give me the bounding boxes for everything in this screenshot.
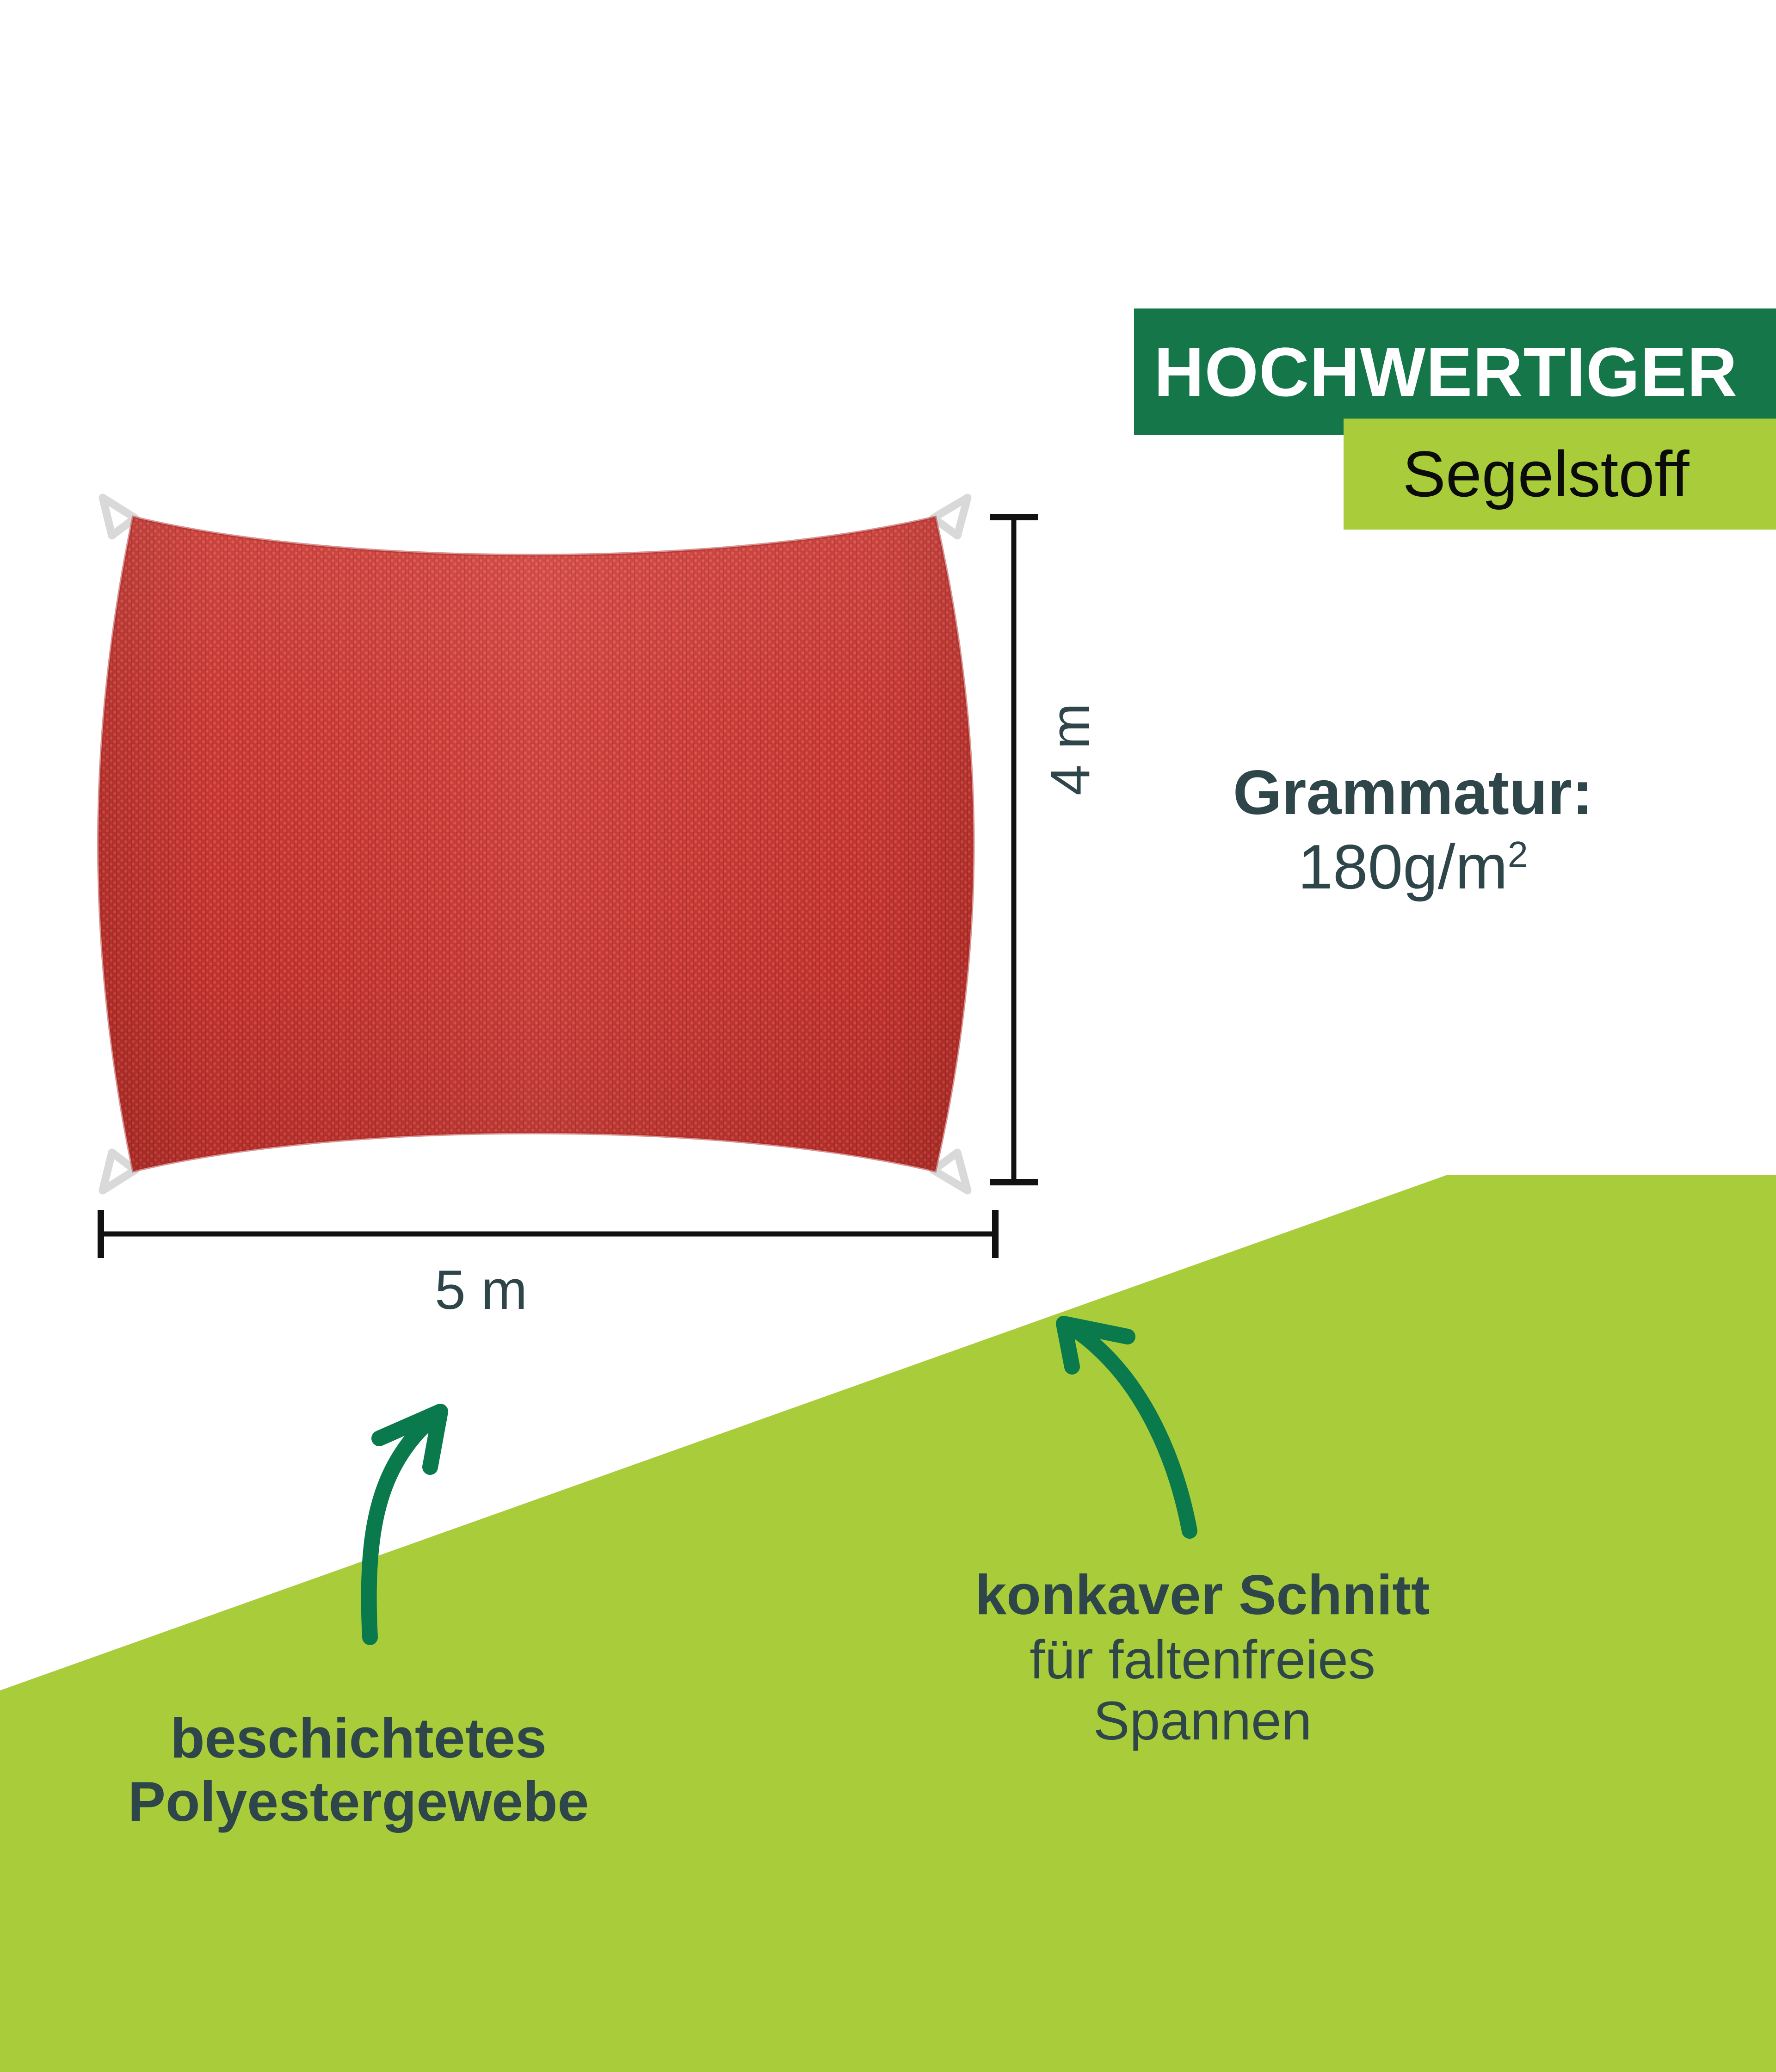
badge-hochwertiger: HOCHWERTIGER	[1134, 308, 1776, 435]
badge-subline-text: Segelstoff	[1402, 442, 1689, 506]
curved-arrow-up-left-icon	[1064, 1324, 1190, 1531]
callout-right-heading: konkaver Schnitt	[879, 1563, 1526, 1627]
callout-left-line1: beschichtetes	[69, 1707, 647, 1770]
callout-right-subline2: Spannen	[879, 1690, 1526, 1751]
callout-right-subline1: für faltenfreies	[879, 1629, 1526, 1690]
callout-left: beschichtetes Polyestergewebe	[69, 1707, 647, 1833]
callout-right: konkaver Schnitt für faltenfreies Spanne…	[879, 1563, 1526, 1751]
spec-grammatur: Grammatur: 180g/m2	[1147, 758, 1679, 901]
spec-value: 180g/m2	[1147, 833, 1679, 901]
curved-arrow-up-right-icon	[369, 1412, 440, 1637]
spec-label: Grammatur:	[1147, 758, 1679, 826]
badge-headline-text: HOCHWERTIGER	[1154, 337, 1738, 407]
callout-left-line2: Polyestergewebe	[69, 1770, 647, 1833]
infographic-canvas: 4 m 5 m HOCHWERTIGER Segelstoff Grammatu…	[0, 0, 1776, 2072]
badge-segelstoff: Segelstoff	[1344, 419, 1776, 530]
spec-value-number: 180g/m	[1298, 832, 1508, 902]
spec-value-exponent: 2	[1508, 834, 1528, 875]
